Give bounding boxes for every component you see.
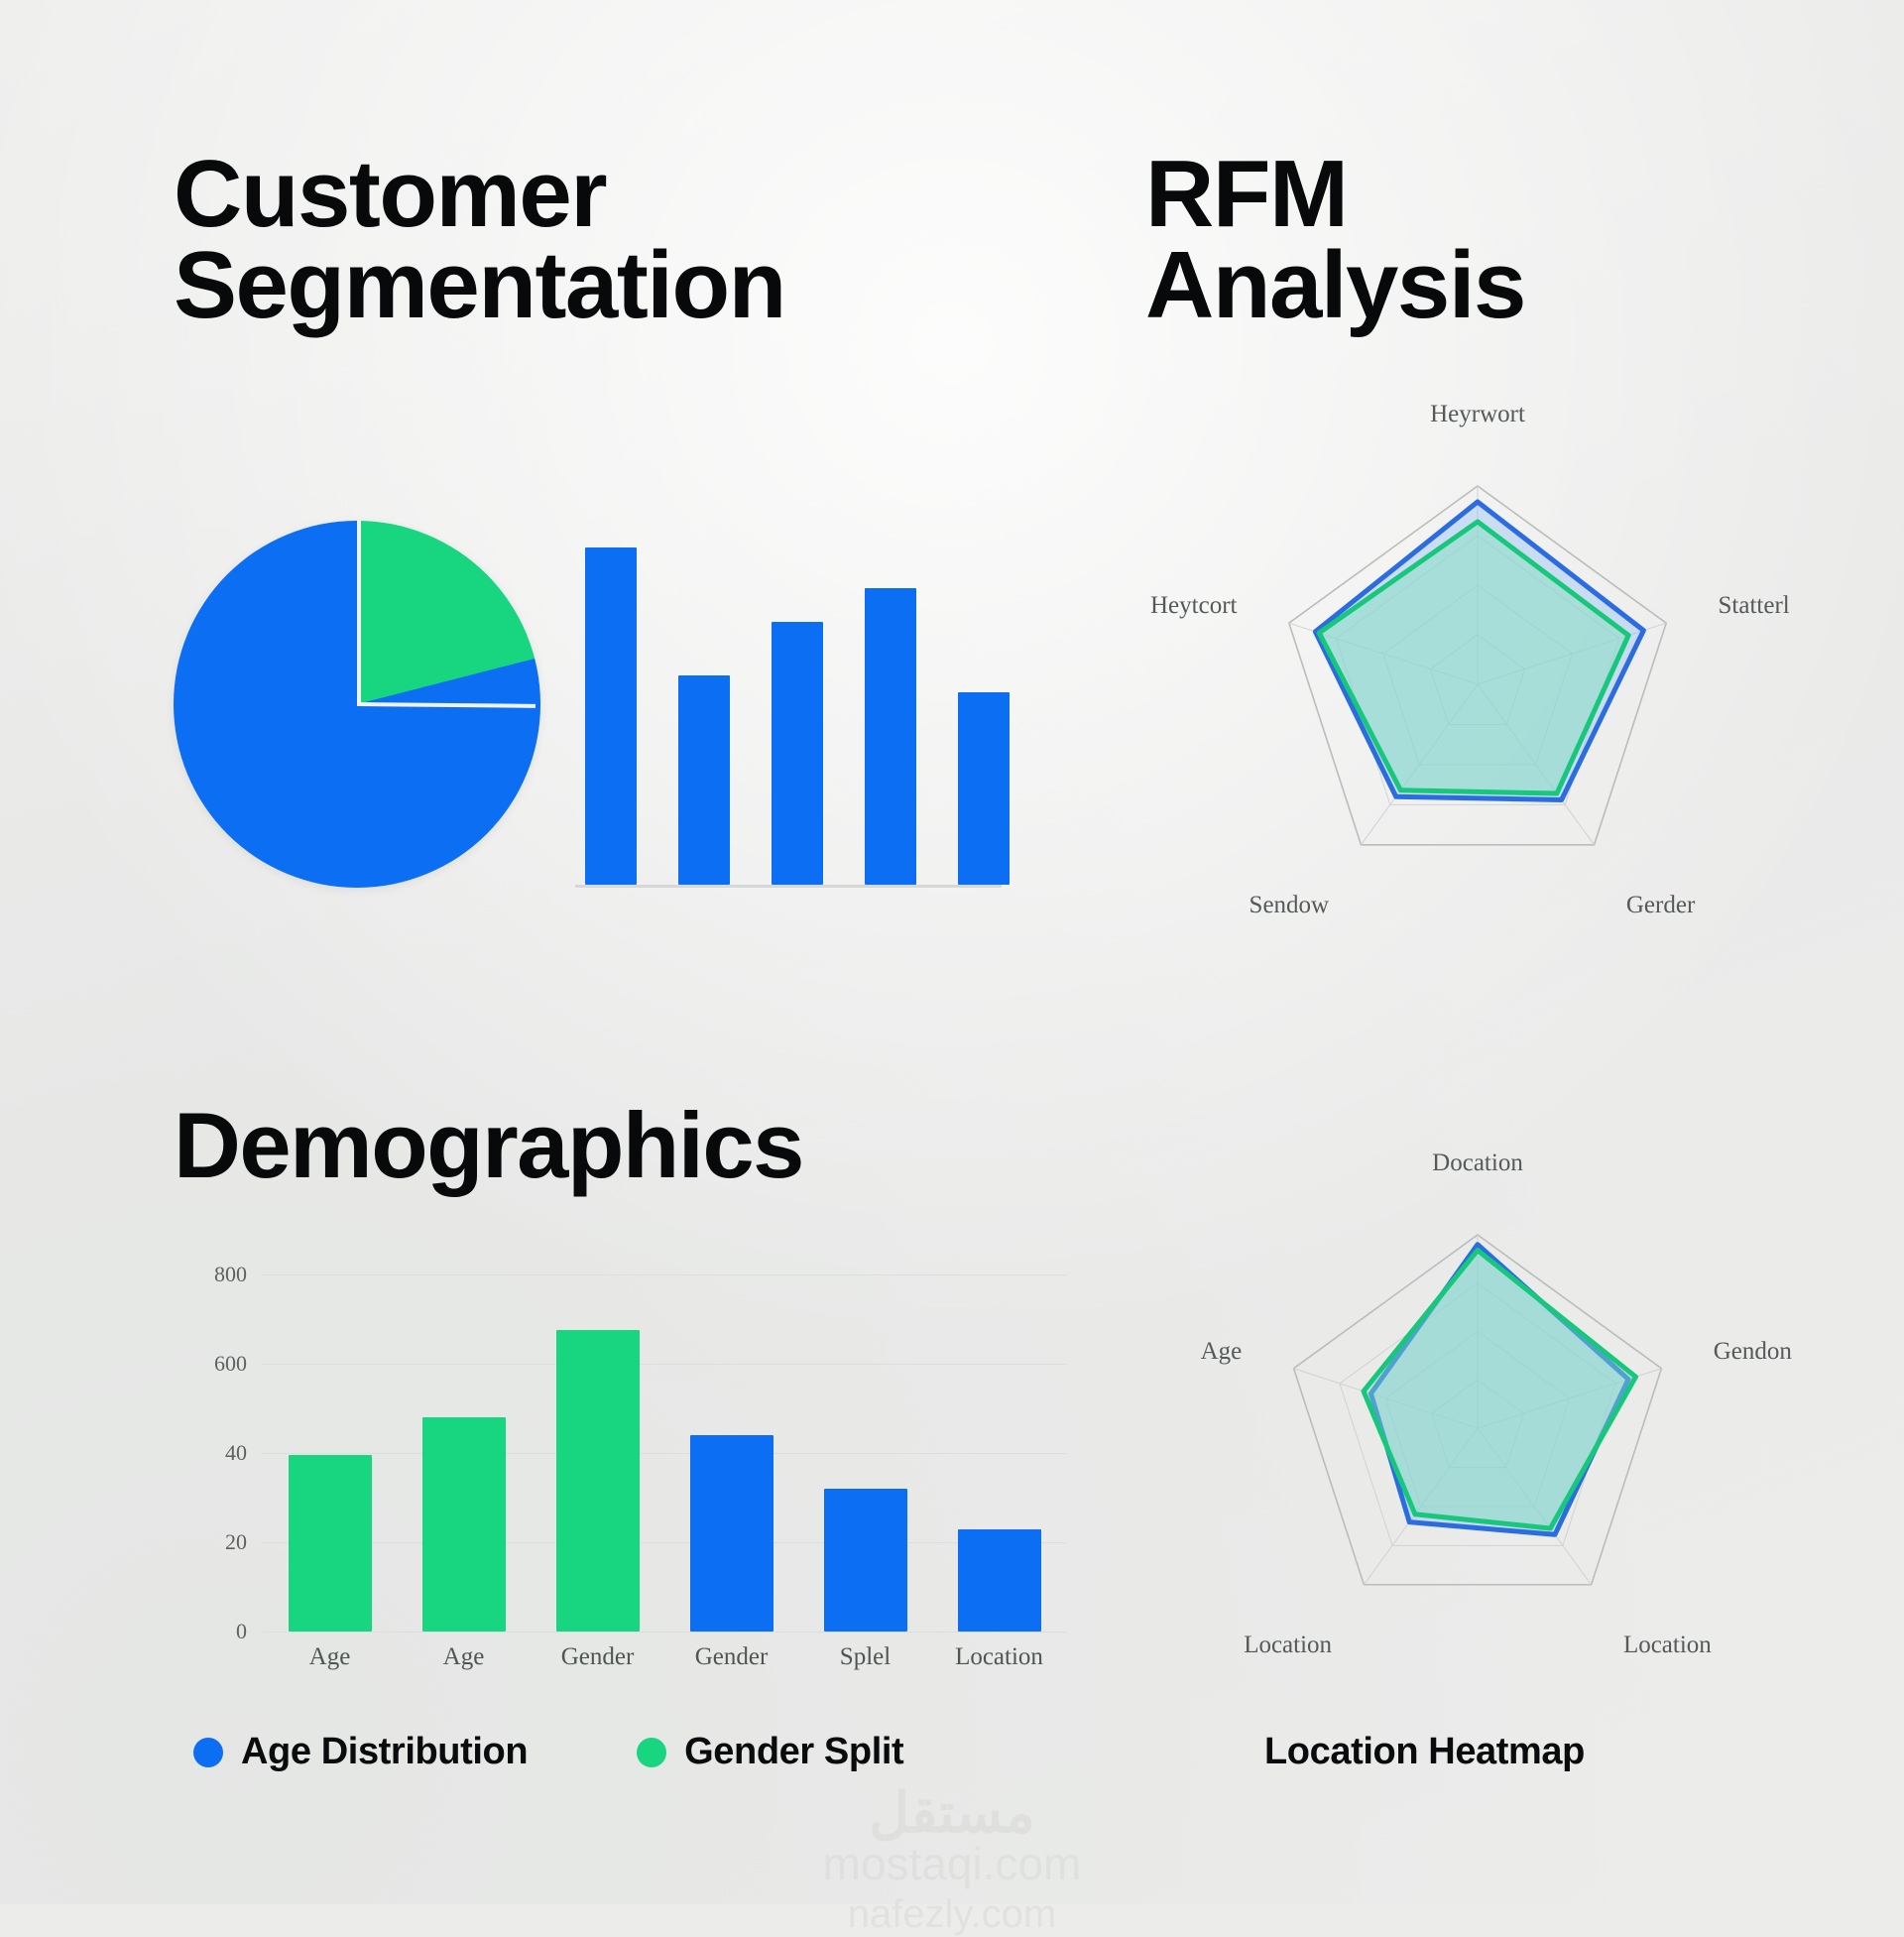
page-title-rfm-analysis: RFM Analysis [1145, 149, 1661, 331]
bar-chart-baseline [575, 885, 1002, 888]
radar-series [1364, 1251, 1635, 1528]
pie-divider-vertical [357, 521, 361, 704]
radar-grid [1140, 1190, 1835, 1686]
watermark: مستقل mostaqi.com nafezly.com [0, 1785, 1904, 1937]
bar [865, 588, 916, 885]
legend-label: Age Distribution [241, 1731, 528, 1773]
page-title-customer-segmentation: Customer Segmentation [174, 149, 927, 331]
bar [824, 1489, 907, 1632]
page-title-demographics: Demographics [174, 1101, 997, 1190]
bar [289, 1455, 372, 1632]
radar-axis-label: Heytcort [1150, 592, 1237, 620]
legend-item-gender-split[interactable]: Gender Split [637, 1731, 903, 1773]
watermark-arabic: مستقل [0, 1785, 1904, 1841]
x-axis-tick-label: Gender [529, 1643, 667, 1671]
y-axis-tick-label: 800 [174, 1262, 247, 1287]
y-axis-tick-label: 0 [174, 1619, 247, 1644]
radar-axis-label: Age [1201, 1338, 1243, 1366]
gridline [263, 1453, 1066, 1454]
legend-item-age-distribution[interactable]: Age Distribution [193, 1731, 528, 1773]
location-heatmap-radar-chart: DocationGendonLocationLocationAge [1140, 1190, 1835, 1686]
demographics-bar-chart: AgeAgeGenderGenderSplelLocation 02040600… [174, 1274, 1066, 1671]
radar-axis-label: Docation [1432, 1150, 1523, 1177]
watermark-mostaqi: mostaqi.com [0, 1837, 1904, 1890]
demographics-plot-area: AgeAgeGenderGenderSplelLocation [263, 1274, 1066, 1632]
demographics-legend: Age Distribution Gender Split [193, 1731, 903, 1773]
bar [678, 675, 730, 885]
dot-icon [637, 1738, 666, 1767]
radar-axis-label: Heyrwort [1430, 401, 1525, 428]
radar-grid [1130, 436, 1825, 952]
radar-axis-label: Location [1244, 1632, 1332, 1659]
bar [690, 1435, 773, 1632]
radar-axis-label: Gendon [1714, 1338, 1792, 1366]
rfm-radar-chart: HeyrwortStatterlGerderSendowHeytcort [1130, 436, 1825, 952]
gridline [263, 1632, 1066, 1633]
x-axis-tick-label: Age [395, 1643, 534, 1671]
gridline [263, 1274, 1066, 1275]
gridline [263, 1542, 1066, 1543]
x-axis-tick-label: Age [261, 1643, 400, 1671]
watermark-nafezly: nafezly.com [0, 1892, 1904, 1937]
segmentation-bar-chart [575, 541, 1002, 888]
bar [556, 1330, 640, 1632]
bar [958, 1529, 1041, 1633]
bar [958, 692, 1010, 885]
caption-location-heatmap: Location Heatmap [1264, 1731, 1585, 1773]
gridline [263, 1364, 1066, 1365]
radar-axis-label: Statterl [1719, 592, 1790, 620]
y-axis-tick-label: 600 [174, 1351, 247, 1377]
legend-label: Gender Split [684, 1731, 903, 1773]
x-axis-tick-label: Splel [796, 1643, 935, 1671]
bar [585, 547, 637, 885]
dot-icon [193, 1738, 223, 1767]
segmentation-pie-chart [174, 521, 540, 888]
x-axis-tick-label: Gender [662, 1643, 801, 1671]
x-axis-tick-label: Location [930, 1643, 1069, 1671]
y-axis-tick-label: 40 [174, 1440, 247, 1466]
radar-axis-label: Sendow [1249, 892, 1330, 919]
bar [772, 622, 823, 885]
y-axis-tick-label: 20 [174, 1529, 247, 1555]
radar-axis-label: Location [1623, 1632, 1712, 1659]
bar [422, 1417, 506, 1632]
radar-axis-label: Gerder [1626, 892, 1695, 919]
